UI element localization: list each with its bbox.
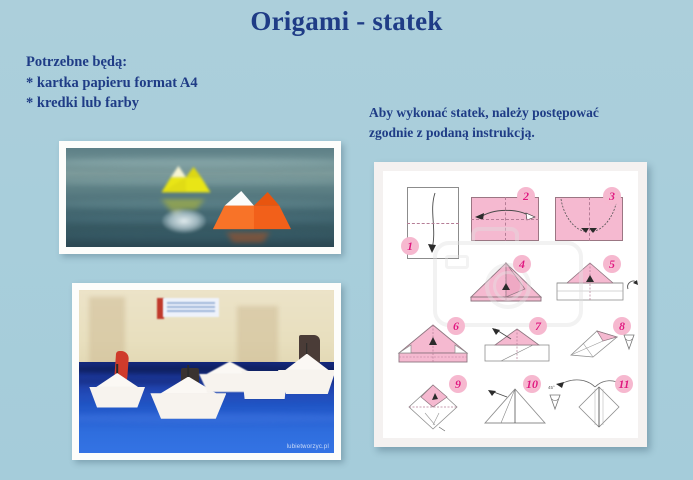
photo-inner-water	[66, 148, 334, 247]
materials-item-2: * kredki lub farby	[26, 93, 198, 114]
origami-step-7: 7	[481, 317, 557, 365]
paper-boat-red-sail	[89, 372, 145, 408]
step-2-fold-line	[471, 219, 539, 220]
yellow-paper-boat	[157, 164, 215, 198]
step-badge-6: 6	[447, 317, 465, 335]
instruction-sheet: 1 2	[383, 171, 638, 438]
notice-line	[167, 306, 215, 308]
step-3-fold-line	[589, 197, 590, 241]
photo-paper-boats-on-water	[59, 141, 341, 254]
notice-line	[167, 302, 215, 304]
step-8-shape	[567, 327, 621, 361]
origami-step-3: 3	[555, 189, 627, 241]
step-badge-5: 5	[603, 255, 621, 273]
instruction-sentence-line-2: zgodnie z podaną instrukcją.	[369, 123, 689, 143]
boat-deck	[94, 373, 141, 389]
step-badge-4: 4	[513, 255, 531, 273]
step-5-rotate-icon	[625, 277, 638, 293]
step-badge-1: 1	[401, 237, 419, 255]
origami-step-6: 6	[397, 317, 473, 365]
notice-line	[167, 310, 215, 312]
wall-notice-card	[163, 298, 219, 317]
water-streak	[66, 230, 334, 241]
origami-step-1: 1	[401, 187, 461, 261]
origami-step-4: 4	[469, 255, 547, 303]
photo-paper-boats-classroom: lubietworzyc.pl	[72, 283, 341, 460]
materials-item-1: * kartka papieru format A4	[26, 73, 198, 94]
step-badge-10: 10	[523, 375, 541, 393]
origami-step-9: 9	[405, 375, 471, 431]
step-badge-3: 3	[603, 187, 621, 205]
boat-deck	[283, 354, 332, 372]
step-badge-11: 11	[615, 375, 633, 393]
step-badge-7: 7	[529, 317, 547, 335]
step-10-shape	[483, 385, 547, 429]
boat-hull	[89, 387, 145, 408]
photo-inner-classroom: lubietworzyc.pl	[79, 290, 334, 453]
origami-step-11: 11	[573, 375, 638, 431]
step-badge-2: 2	[517, 187, 535, 205]
orange-boat-reflection	[208, 230, 288, 247]
decorative-arc	[429, 171, 473, 187]
orange-paper-boat	[211, 188, 293, 235]
instruction-sentence-line-1: Aby wykonać statek, należy postępować	[369, 103, 689, 123]
boat-hull	[278, 370, 334, 394]
materials-heading: Potrzebne będą:	[26, 52, 198, 73]
paper-boat-brown-sail	[278, 352, 334, 394]
step-badge-8: 8	[613, 317, 631, 335]
instruction-sentence: Aby wykonać statek, należy postępować zg…	[369, 103, 689, 142]
step-4-shape	[469, 261, 543, 303]
photo-watermark: lubietworzyc.pl	[287, 444, 329, 450]
slide-canvas: Origami - statek Potrzebne będą: * kartk…	[0, 0, 693, 480]
origami-instruction-panel: 1 2	[374, 162, 647, 447]
classroom-scene: lubietworzyc.pl	[79, 290, 334, 453]
origami-step-2: 2	[471, 189, 543, 241]
step-badge-9: 9	[449, 375, 467, 393]
water-scene	[66, 148, 334, 247]
step-1-fold-line	[407, 223, 459, 224]
origami-step-8: 45° 8	[567, 317, 638, 365]
origami-step-5: 5	[555, 255, 633, 303]
materials-list: Potrzebne będą: * kartka papieru format …	[26, 52, 198, 114]
page-title: Origami - statek	[0, 6, 693, 37]
boat-hull	[150, 393, 226, 419]
